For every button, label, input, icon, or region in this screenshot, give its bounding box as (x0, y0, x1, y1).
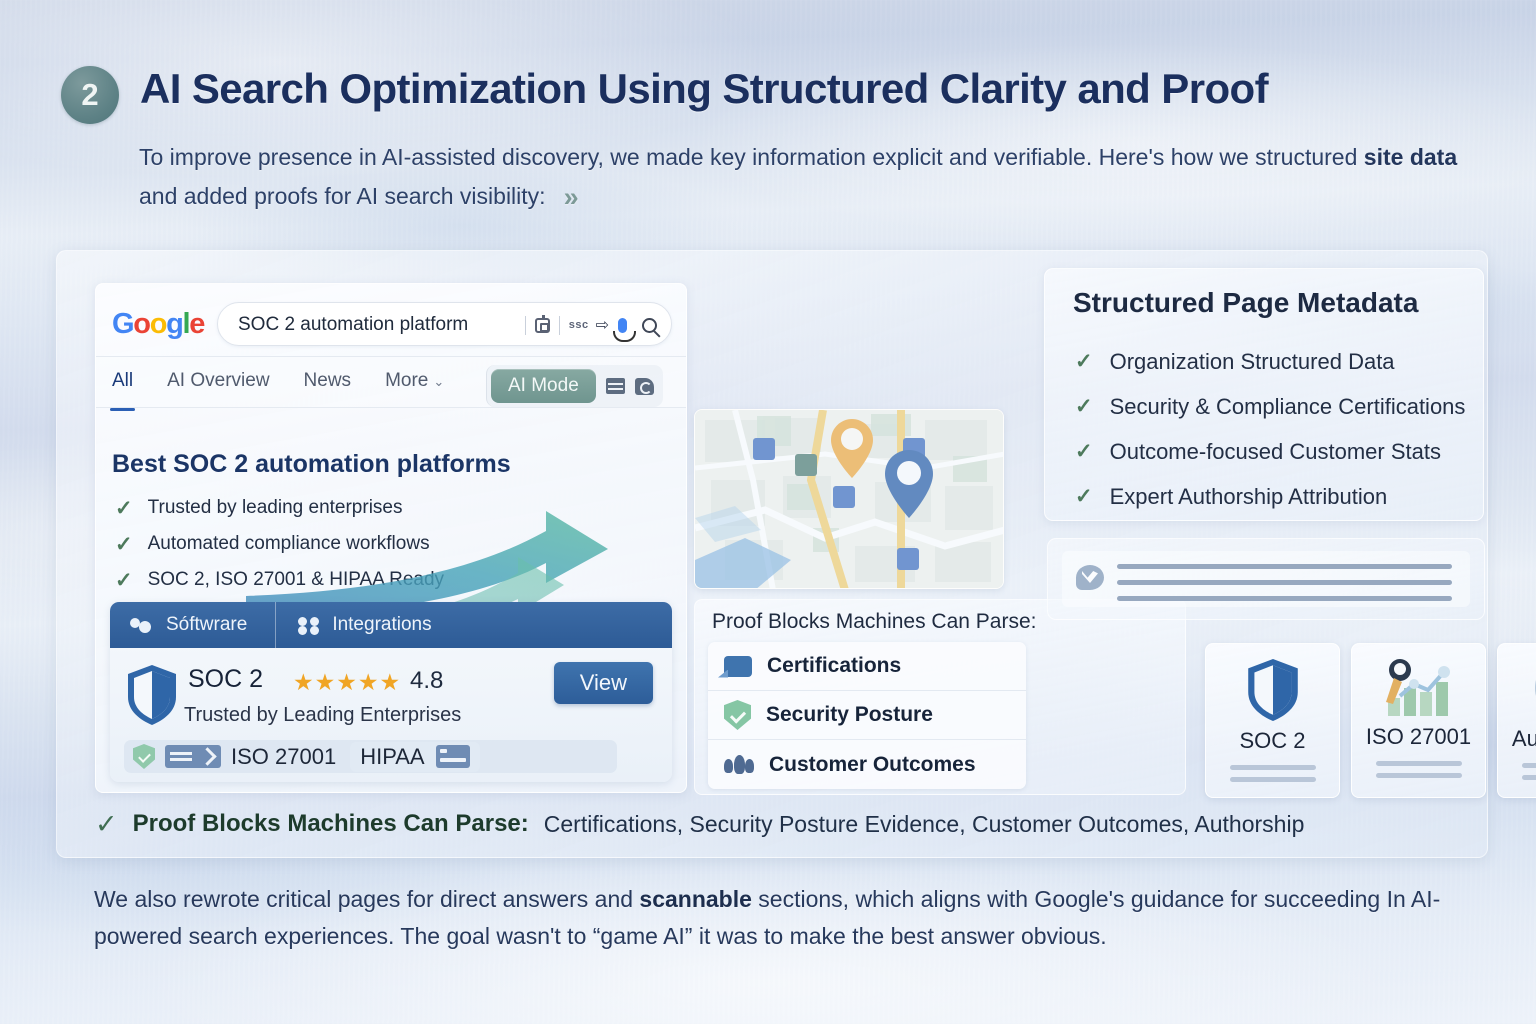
certificate-icon (724, 656, 752, 677)
search-input-value[interactable]: SOC 2 automation platform (238, 314, 468, 336)
chip-label-hipaa: HIPAA (360, 744, 424, 770)
chevron-double-right-icon: » (564, 178, 574, 217)
list-item: ✓ Expert Authorship Attribution (1075, 474, 1465, 519)
check-icon: ✓ (1075, 486, 1093, 507)
check-icon: ✓ (115, 498, 133, 519)
product-tab-software[interactable]: Sóftwrare (110, 602, 276, 648)
badge-card-soc2[interactable]: SOC 2 (1205, 643, 1340, 798)
skeleton-inner (1062, 551, 1470, 607)
check-icon: ✓ (95, 811, 118, 838)
list-item: ✓ Security & Compliance Certifications (1075, 384, 1465, 429)
ai-mode-button[interactable]: AI Mode (491, 369, 596, 403)
footer-paragraph: We also rewrote critical pages for direc… (94, 881, 1494, 955)
google-logo: Google (112, 308, 204, 341)
badge-card-authorship[interactable]: Authorship (1497, 643, 1536, 798)
section-number-badge: 2 (61, 66, 119, 124)
footer-text-part1: We also rewrote critical pages for direc… (94, 886, 639, 912)
proof-blocks-title: Proof Blocks Machines Can Parse: (712, 610, 1036, 634)
badge-card-label: SOC 2 (1239, 728, 1305, 754)
check-icon: ✓ (1075, 441, 1093, 462)
placeholder-lines (1376, 761, 1462, 785)
check-icon: ✓ (1075, 351, 1093, 372)
product-tab-label: Integrations (332, 614, 431, 636)
search-tab-row: All AI Overview News More⌄ AI Mode (96, 356, 686, 408)
illustration-frame: Google SOC 2 automation platform ssc ⇨ A… (56, 250, 1488, 858)
check-icon: ✓ (115, 570, 133, 591)
intro-text-part1: To improve presence in AI-assisted disco… (139, 144, 1364, 170)
tab-all[interactable]: All (112, 370, 133, 401)
list-item-label: Customer Outcomes (769, 753, 976, 777)
map-overlay (695, 410, 1003, 588)
placeholder-lines (1117, 564, 1452, 612)
structured-metadata-panel: Structured Page Metadata ✓ Organization … (1044, 268, 1484, 521)
summary-strong-label: Proof Blocks Machines Can Parse: (133, 810, 529, 838)
snippet-skeleton-card (1047, 538, 1485, 620)
product-name: SOC 2 (188, 665, 263, 694)
intro-text-part2: and added proofs for AI search visibilit… (139, 183, 546, 209)
metadata-list: ✓ Organization Structured Data ✓ Securit… (1075, 339, 1465, 519)
product-subtitle: Trusted by Leading Enterprises (184, 704, 461, 727)
google-search-card: Google SOC 2 automation platform ssc ⇨ A… (95, 283, 687, 793)
chip-label-iso: ISO 27001 (231, 744, 336, 770)
badge-card-iso27001[interactable]: ISO 27001 (1351, 643, 1486, 798)
summary-bar: ✓ Proof Blocks Machines Can Parse: Certi… (95, 803, 1449, 845)
proof-blocks-panel: Proof Blocks Machines Can Parse: Certifi… (694, 599, 1186, 795)
people-group-icon (724, 755, 754, 775)
metadata-panel-title: Structured Page Metadata (1073, 287, 1418, 319)
list-item-label: Security Posture (766, 703, 933, 727)
chart-growth-icon (1384, 658, 1454, 718)
view-button[interactable]: View (554, 662, 653, 704)
map-thumbnail[interactable] (694, 409, 1004, 589)
google-search-bar: Google SOC 2 automation platform ssc ⇨ (96, 284, 686, 356)
badge-card-label: Authorship (1512, 726, 1536, 752)
product-tab-label: Sóftwrare (166, 614, 247, 636)
list-item-label: Certifications (767, 654, 901, 678)
verified-shield-icon (133, 744, 155, 769)
results-heading: Best SOC 2 automation platforms (112, 450, 511, 479)
shield-check-icon (724, 700, 751, 730)
divider (525, 316, 526, 335)
proof-blocks-list: Certifications Security Posture Customer… (708, 642, 1026, 789)
badge-card-row: SOC 2 ISO 27001 (1205, 643, 1536, 798)
list-item-label: Organization Structured Data (1110, 349, 1395, 375)
layers-icon[interactable] (606, 378, 625, 394)
magnifier-icon[interactable] (642, 318, 657, 333)
list-item: ✓ Outcome-focused Customer Stats (1075, 429, 1465, 474)
logo-letter: o (133, 308, 149, 340)
list-item[interactable]: Customer Outcomes (708, 740, 1026, 789)
divider (559, 316, 560, 335)
sparkle-icon[interactable] (635, 378, 654, 395)
lens-icon[interactable] (535, 318, 550, 333)
search-input[interactable]: SOC 2 automation platform ssc ⇨ (217, 302, 672, 346)
list-item-label: Security & Compliance Certifications (1110, 394, 1466, 420)
author-avatar-icon (1532, 658, 1536, 720)
search-tabs: All AI Overview News More⌄ (112, 370, 444, 401)
check-icon: ✓ (1075, 396, 1093, 417)
list-item[interactable]: Certifications (708, 642, 1026, 691)
chip-hipaa: HIPAA (350, 742, 479, 772)
check-icon: ✓ (115, 534, 133, 555)
rating-stars: ★★★★★ (293, 669, 401, 696)
logo-letter: o (150, 308, 166, 340)
logo-letter: g (166, 308, 182, 340)
tab-news[interactable]: News (304, 370, 352, 401)
certificate-glyph-icon (165, 745, 221, 768)
tab-more-label: More (385, 370, 428, 391)
placeholder-lines (1230, 765, 1316, 789)
product-card-body: SOC 2 ★★★★★ 4.8 Trusted by Leading Enter… (110, 648, 672, 782)
placeholder-lines (1522, 763, 1536, 787)
card-icon (436, 745, 470, 768)
ssc-arrow-icon[interactable]: ⇨ (596, 315, 609, 335)
grid-dots-icon (298, 617, 319, 634)
logo-letter: e (189, 308, 204, 340)
badge-card-label: ISO 27001 (1366, 724, 1471, 750)
page-title: AI Search Optimization Using Structured … (140, 65, 1268, 113)
list-item[interactable]: Security Posture (708, 691, 1026, 740)
list-item: ✓ Organization Structured Data (1075, 339, 1465, 384)
footer-text-bold: scannable (639, 886, 752, 912)
rating-value: 4.8 (410, 667, 443, 695)
list-item-label: Expert Authorship Attribution (1110, 484, 1388, 510)
people-icon (130, 617, 153, 634)
microphone-icon[interactable] (618, 318, 627, 333)
shield-icon (1245, 658, 1301, 722)
product-result-card: Sóftwrare Integrations SOC 2 ★★★★★ 4.8 T… (110, 602, 672, 782)
chevron-down-icon: ⌄ (433, 374, 444, 389)
ssc-label: ssc (569, 319, 589, 331)
product-card-tabs: Sóftwrare Integrations (110, 602, 672, 648)
ai-mode-group: AI Mode (486, 365, 663, 407)
list-item-label: Outcome-focused Customer Stats (1110, 439, 1441, 465)
intro-text-bold: site data (1364, 144, 1457, 170)
certification-chips: ISO 27001 HIPAA (124, 740, 617, 773)
logo-letter: G (112, 308, 133, 340)
comment-heart-icon (1076, 565, 1104, 590)
summary-rest-label: Certifications, Security Posture Evidenc… (544, 811, 1305, 838)
search-input-icons: ssc ⇨ (525, 313, 657, 337)
tab-ai-overview[interactable]: AI Overview (167, 370, 269, 401)
tab-more[interactable]: More⌄ (385, 370, 444, 401)
intro-paragraph: To improve presence in AI-assisted disco… (139, 138, 1469, 217)
product-tab-integrations[interactable]: Integrations (276, 602, 453, 648)
shield-icon (126, 664, 178, 726)
